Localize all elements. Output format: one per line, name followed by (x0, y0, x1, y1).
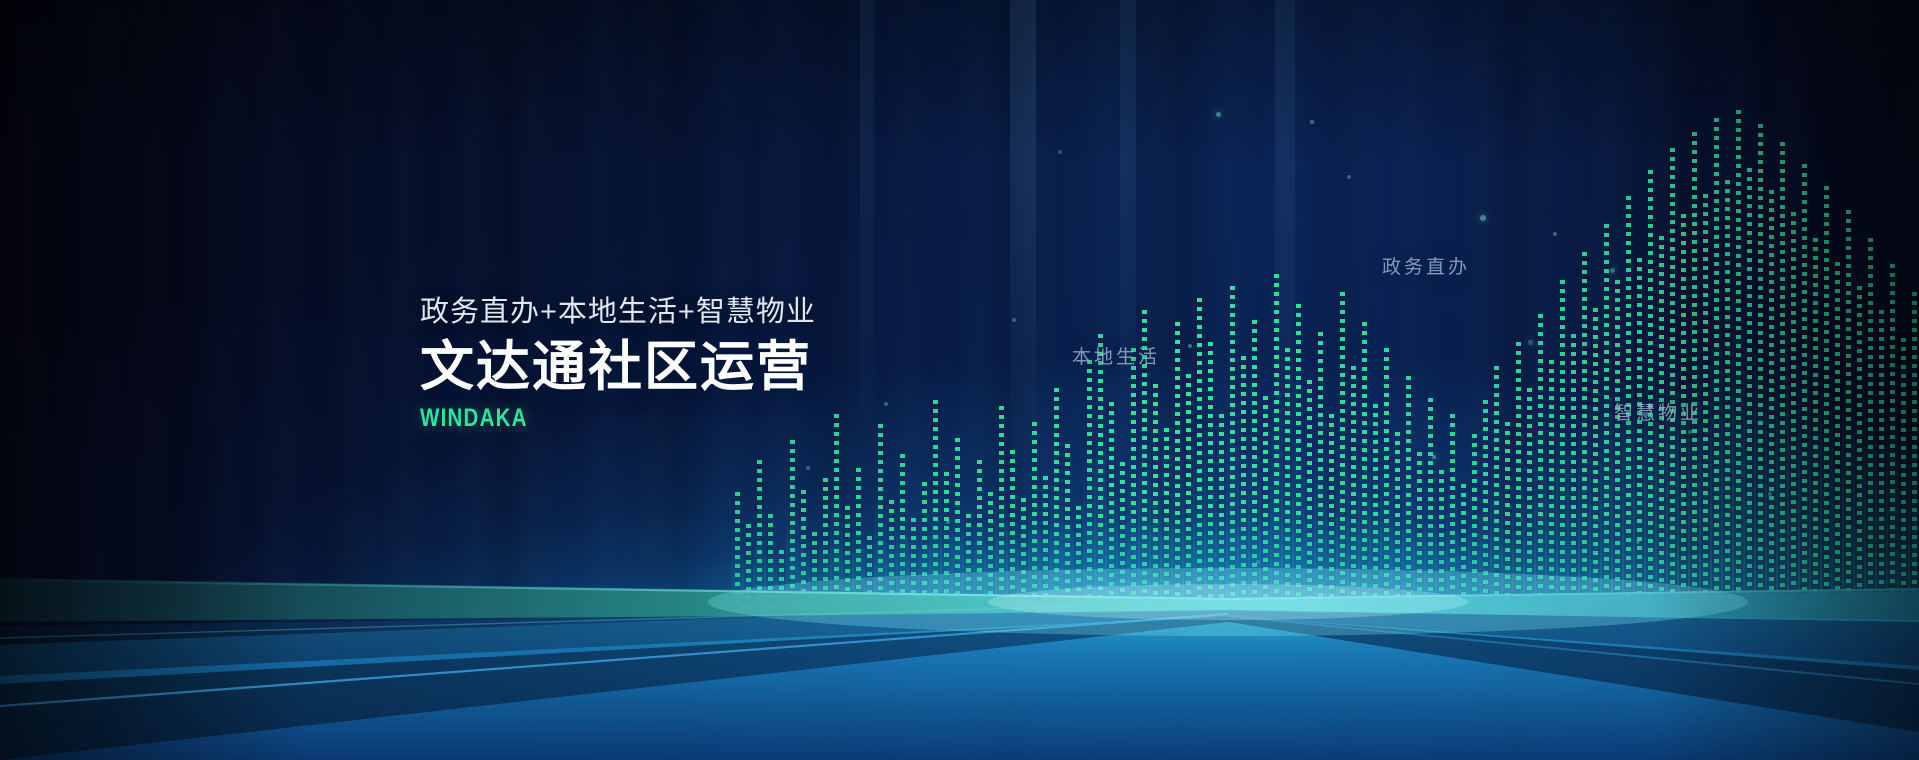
floating-label-2: 本地生活 (1072, 342, 1160, 369)
tagline: 政务直办+本地生活+智慧物业 (420, 288, 816, 330)
brand-wordmark: WINDAKA (420, 404, 745, 433)
perspective-ground (0, 470, 1919, 760)
page-title: 文达通社区运营 (420, 338, 816, 396)
ground-svg (0, 470, 1919, 760)
floating-label-3: 智慧物业 (1614, 398, 1702, 425)
headline-block: 政务直办+本地生活+智慧物业 文达通社区运营 WINDAKA (420, 288, 816, 433)
horizon-bloom-core (988, 584, 1468, 620)
hero-banner: 政务直办本地生活智慧物业 政务直办+本地生活+智慧物业 文达通社区运营 WIND… (0, 0, 1919, 760)
floating-label-1: 政务直办 (1382, 252, 1470, 279)
